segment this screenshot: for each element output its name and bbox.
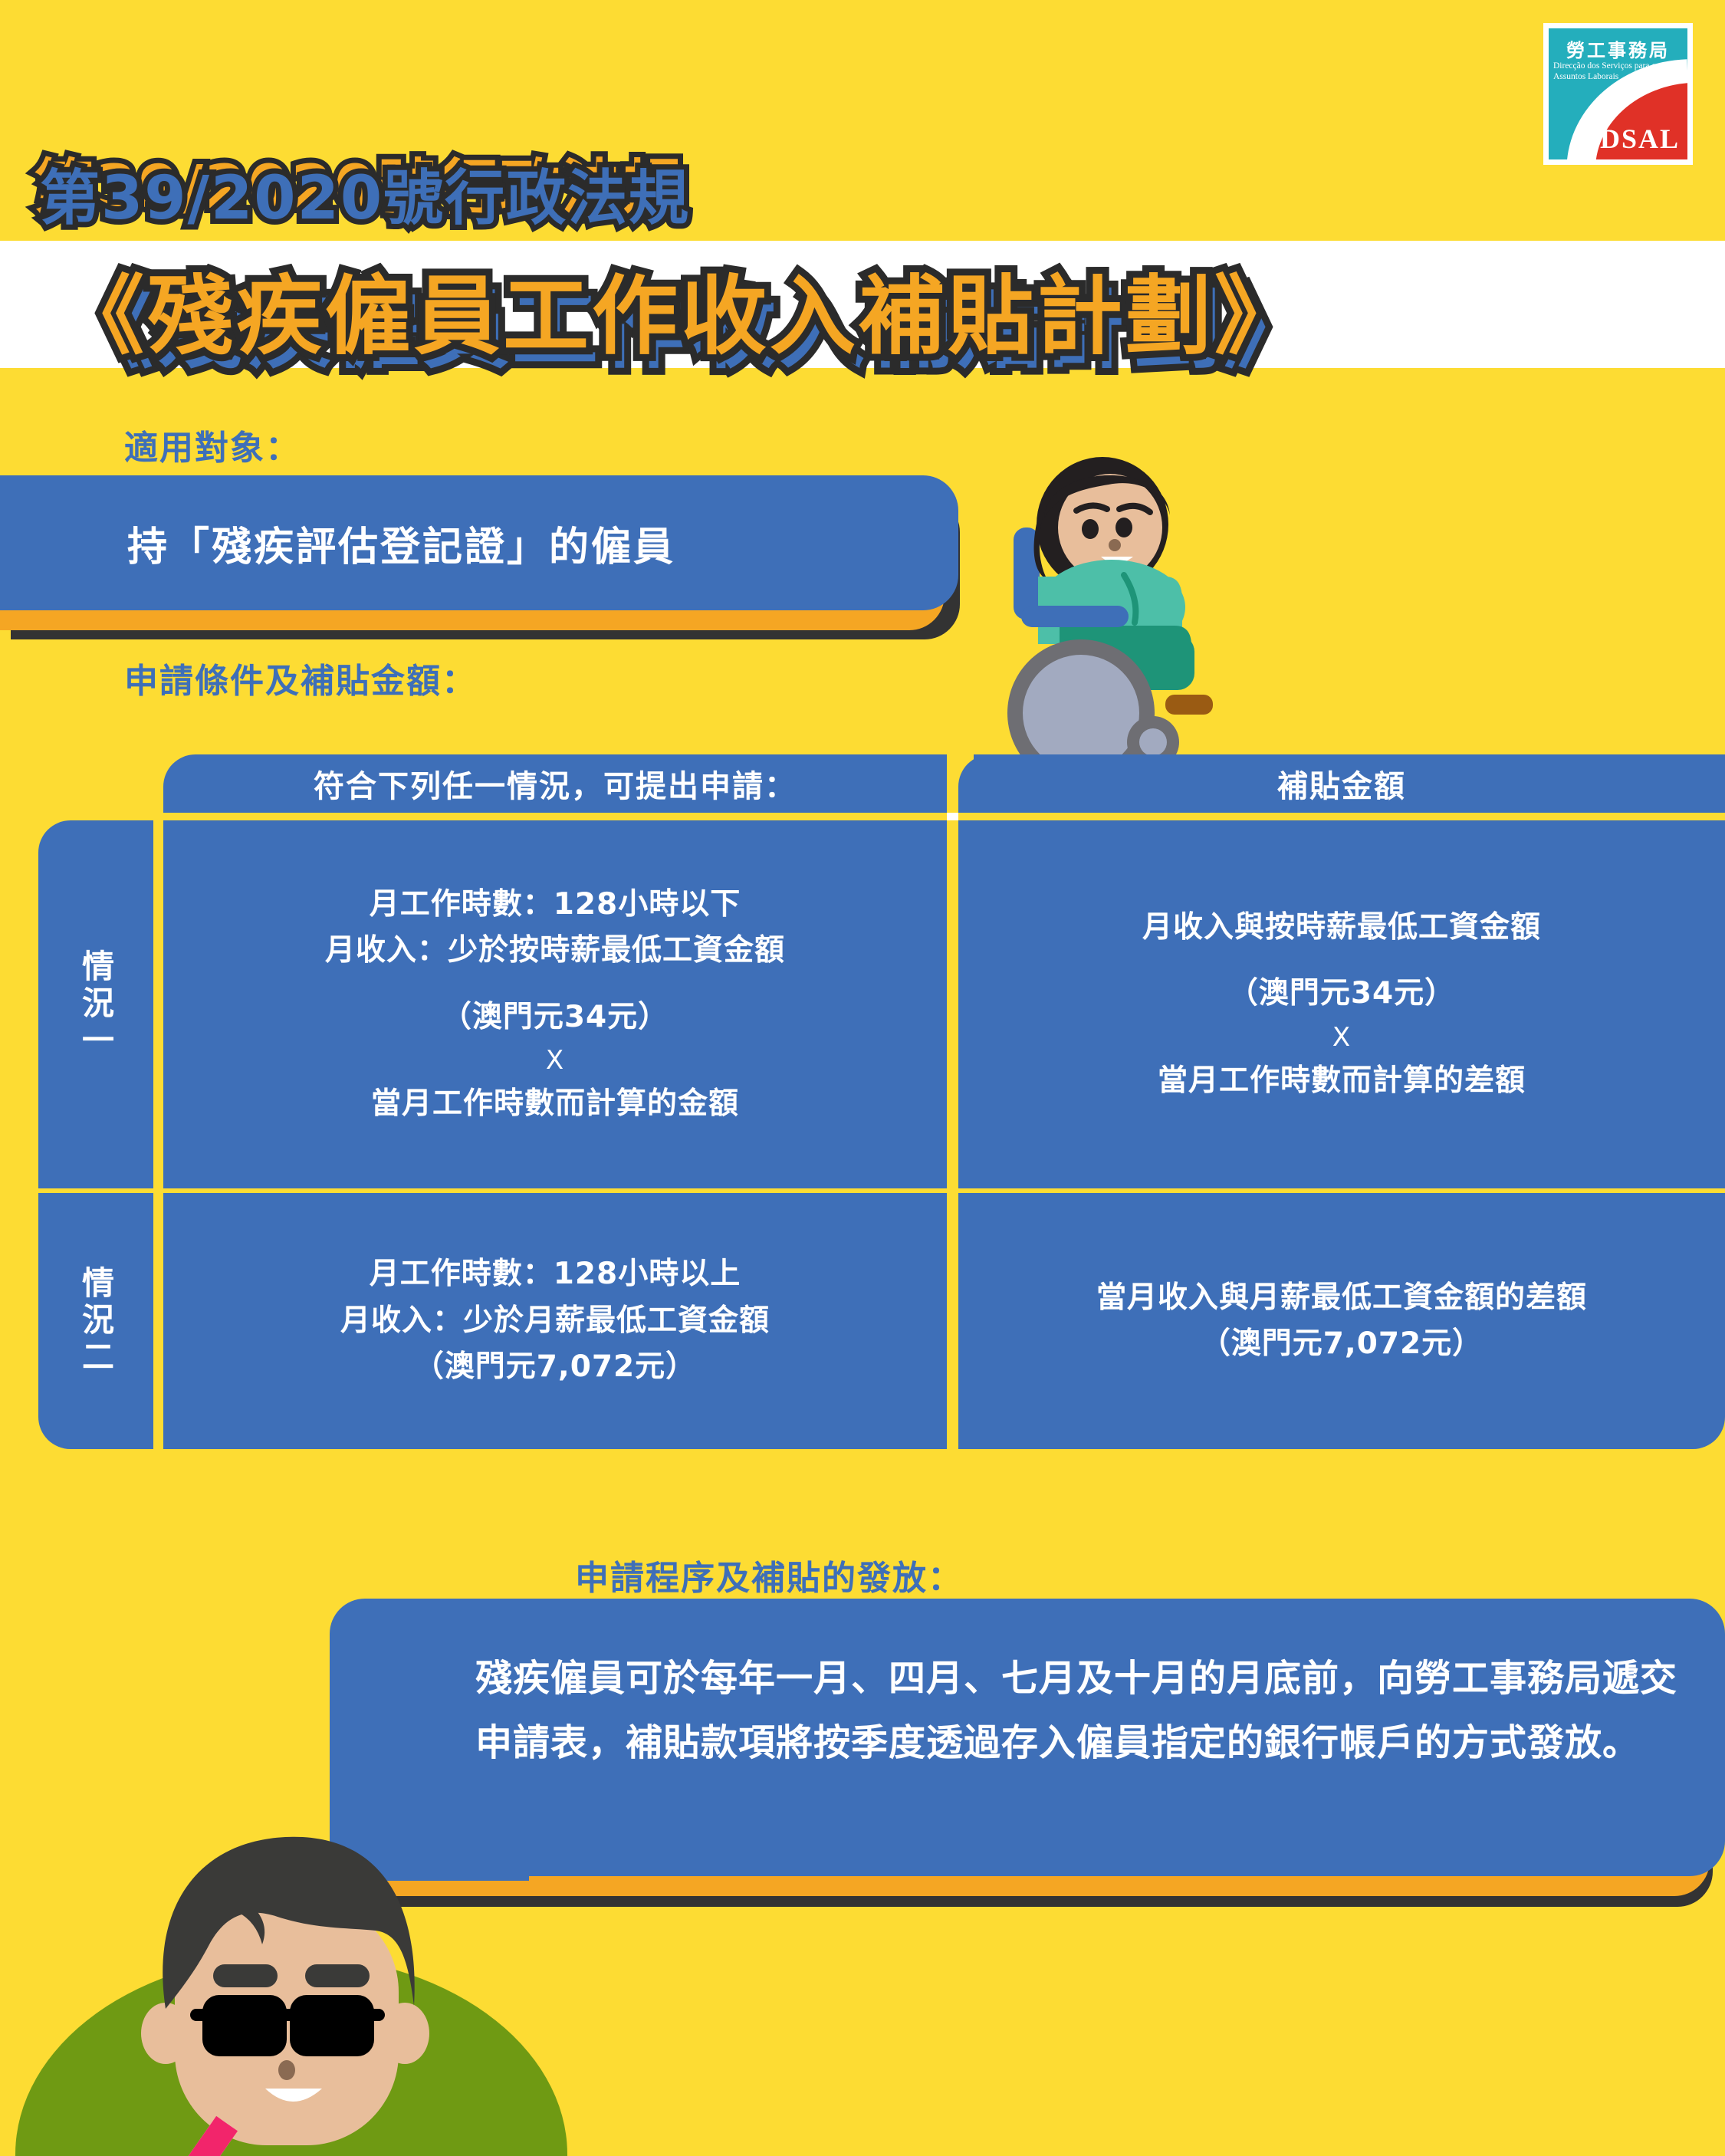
regulation-number-shadow: 第39/2020號行政法規: [40, 150, 690, 236]
logo-acronym: DSAL: [1600, 123, 1680, 155]
logo-inner: 勞工事務局 Direcção dos Serviços para os Assu…: [1549, 28, 1687, 159]
table-cell-condition-case-2: 月工作時數：128小時以上 月收入：少於月薪最低工資金額 （澳門元7,072元）: [163, 1193, 947, 1449]
procedure-text: 殘疾僱員可於每年一月、四月、七月及十月的月底前，向勞工事務局遞交申請表，補貼款項…: [475, 1646, 1702, 1775]
table-row-label-case-1: 情況一: [38, 820, 153, 1188]
table-row-label-case-2: 情況二: [38, 1193, 153, 1449]
eligibility-banner: 持「殘疾評估登記證」的僱員: [0, 475, 974, 644]
table-cell-condition-case-1: 月工作時數：128小時以下 月收入：少於按時薪最低工資金額 （澳門元34元） X…: [163, 820, 947, 1188]
table-header-amount: 補貼金額: [958, 754, 1725, 813]
table-header-conditions: 符合下列任一情況，可提出申請：: [163, 754, 947, 813]
eligibility-label: 適用對象：: [124, 420, 301, 469]
table-row: 當月收入與月薪最低工資金額的差額 （澳門元7,072元）: [1076, 1275, 1607, 1368]
page-title: 《殘疾僱員工作收入補貼計劃》: [58, 247, 1303, 371]
table-cell-amount-case-1: 月收入與按時薪最低工資金額 （澳門元34元） X 當月工作時數而計算的差額: [958, 820, 1725, 1188]
infographic-page: 勞工事務局 Direcção dos Serviços para os Assu…: [0, 0, 1725, 2156]
logo-chinese-name: 勞工事務局: [1549, 35, 1687, 62]
banner-blue-body: 持「殘疾評估登記證」的僱員: [0, 475, 958, 610]
table-row: 月工作時數：128小時以下 月收入：少於按時薪最低工資金額 （澳門元34元） X…: [305, 882, 805, 1127]
man-with-white-cane-illustration: [15, 1756, 598, 2156]
table-row: 月工作時數：128小時以上 月收入：少於月薪最低工資金額 （澳門元7,072元）: [320, 1251, 790, 1390]
conditions-label: 申請條件及補貼金額：: [124, 653, 477, 702]
eligibility-value: 持「殘疾評估登記證」的僱員: [127, 514, 675, 572]
woman-in-wheelchair-illustration: [974, 445, 1234, 767]
table-corner-notch: [947, 813, 958, 820]
table-row: 月收入與按時薪最低工資金額 （澳門元34元） X 當月工作時數而計算的差額: [1122, 905, 1561, 1104]
table-cell-amount-case-2: 當月收入與月薪最低工資金額的差額 （澳門元7,072元）: [958, 1193, 1725, 1449]
procedure-label: 申請程序及補貼的發放：: [575, 1550, 963, 1599]
conditions-table: 符合下列任一情況，可提出申請： 補貼金額 情況一 月工作時數：128小時以下 月…: [0, 736, 1725, 1449]
dsal-logo: 勞工事務局 Direcção dos Serviços para os Assu…: [1543, 23, 1693, 165]
main-title-wrap: 《殘疾僱員工作收入補貼計劃》 《殘疾僱員工作收入補貼計劃》: [0, 230, 1725, 383]
